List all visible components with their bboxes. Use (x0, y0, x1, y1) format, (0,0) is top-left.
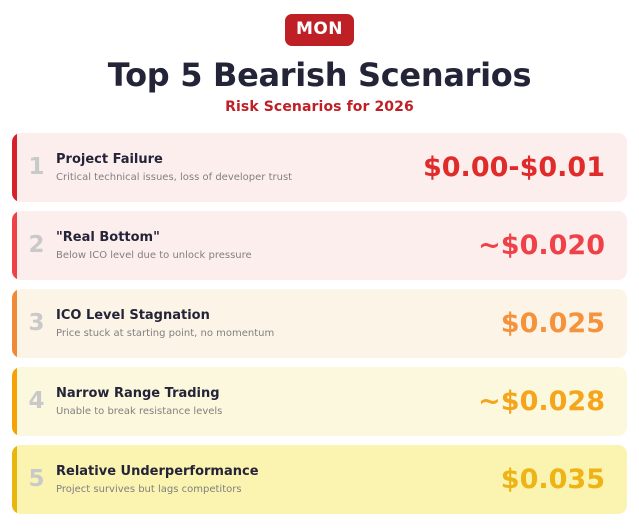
scenario-row: 1 Project Failure Critical technical iss… (12, 133, 627, 202)
scenario-value: $0.035 (501, 466, 627, 493)
scenario-description: Below ICO level due to unlock pressure (56, 249, 468, 262)
scenario-value: $0.025 (501, 310, 627, 337)
scenario-list: 1 Project Failure Critical technical iss… (0, 133, 639, 514)
scenario-title: "Real Bottom" (56, 230, 468, 246)
rank-number: 1 (12, 156, 56, 179)
scenario-title: Narrow Range Trading (56, 386, 468, 402)
scenario-title: Project Failure (56, 152, 413, 168)
scenario-description: Project survives but lags competitors (56, 483, 491, 496)
scenario-value: ~$0.028 (478, 388, 627, 415)
page-header: MON Top 5 Bearish Scenarios Risk Scenari… (0, 0, 639, 115)
scenario-value: ~$0.020 (478, 232, 627, 259)
scenario-row: 4 Narrow Range Trading Unable to break r… (12, 367, 627, 436)
page-subtitle: Risk Scenarios for 2026 (0, 99, 639, 115)
scenario-text: Relative Underperformance Project surviv… (56, 464, 501, 496)
rank-number: 4 (12, 390, 56, 413)
scenario-description: Unable to break resistance levels (56, 405, 468, 418)
scenario-value: $0.00-$0.01 (423, 154, 627, 181)
accent-bar (12, 211, 17, 280)
scenario-text: "Real Bottom" Below ICO level due to unl… (56, 230, 478, 262)
mon-logo-badge: MON (285, 14, 354, 46)
page-title: Top 5 Bearish Scenarios (0, 58, 639, 93)
rank-number: 5 (12, 468, 56, 491)
rank-number: 2 (12, 234, 56, 257)
rank-number: 3 (12, 312, 56, 335)
accent-bar (12, 289, 17, 358)
accent-bar (12, 367, 17, 436)
scenario-description: Critical technical issues, loss of devel… (56, 171, 413, 184)
bearish-scenarios-infographic: MON Top 5 Bearish Scenarios Risk Scenari… (0, 0, 639, 530)
scenario-row: 2 "Real Bottom" Below ICO level due to u… (12, 211, 627, 280)
scenario-description: Price stuck at starting point, no moment… (56, 327, 491, 340)
scenario-text: Project Failure Critical technical issue… (56, 152, 423, 184)
scenario-text: ICO Level Stagnation Price stuck at star… (56, 308, 501, 340)
accent-bar (12, 133, 17, 202)
scenario-row: 3 ICO Level Stagnation Price stuck at st… (12, 289, 627, 358)
accent-bar (12, 445, 17, 514)
scenario-text: Narrow Range Trading Unable to break res… (56, 386, 478, 418)
scenario-title: ICO Level Stagnation (56, 308, 491, 324)
scenario-row: 5 Relative Underperformance Project surv… (12, 445, 627, 514)
scenario-title: Relative Underperformance (56, 464, 491, 480)
